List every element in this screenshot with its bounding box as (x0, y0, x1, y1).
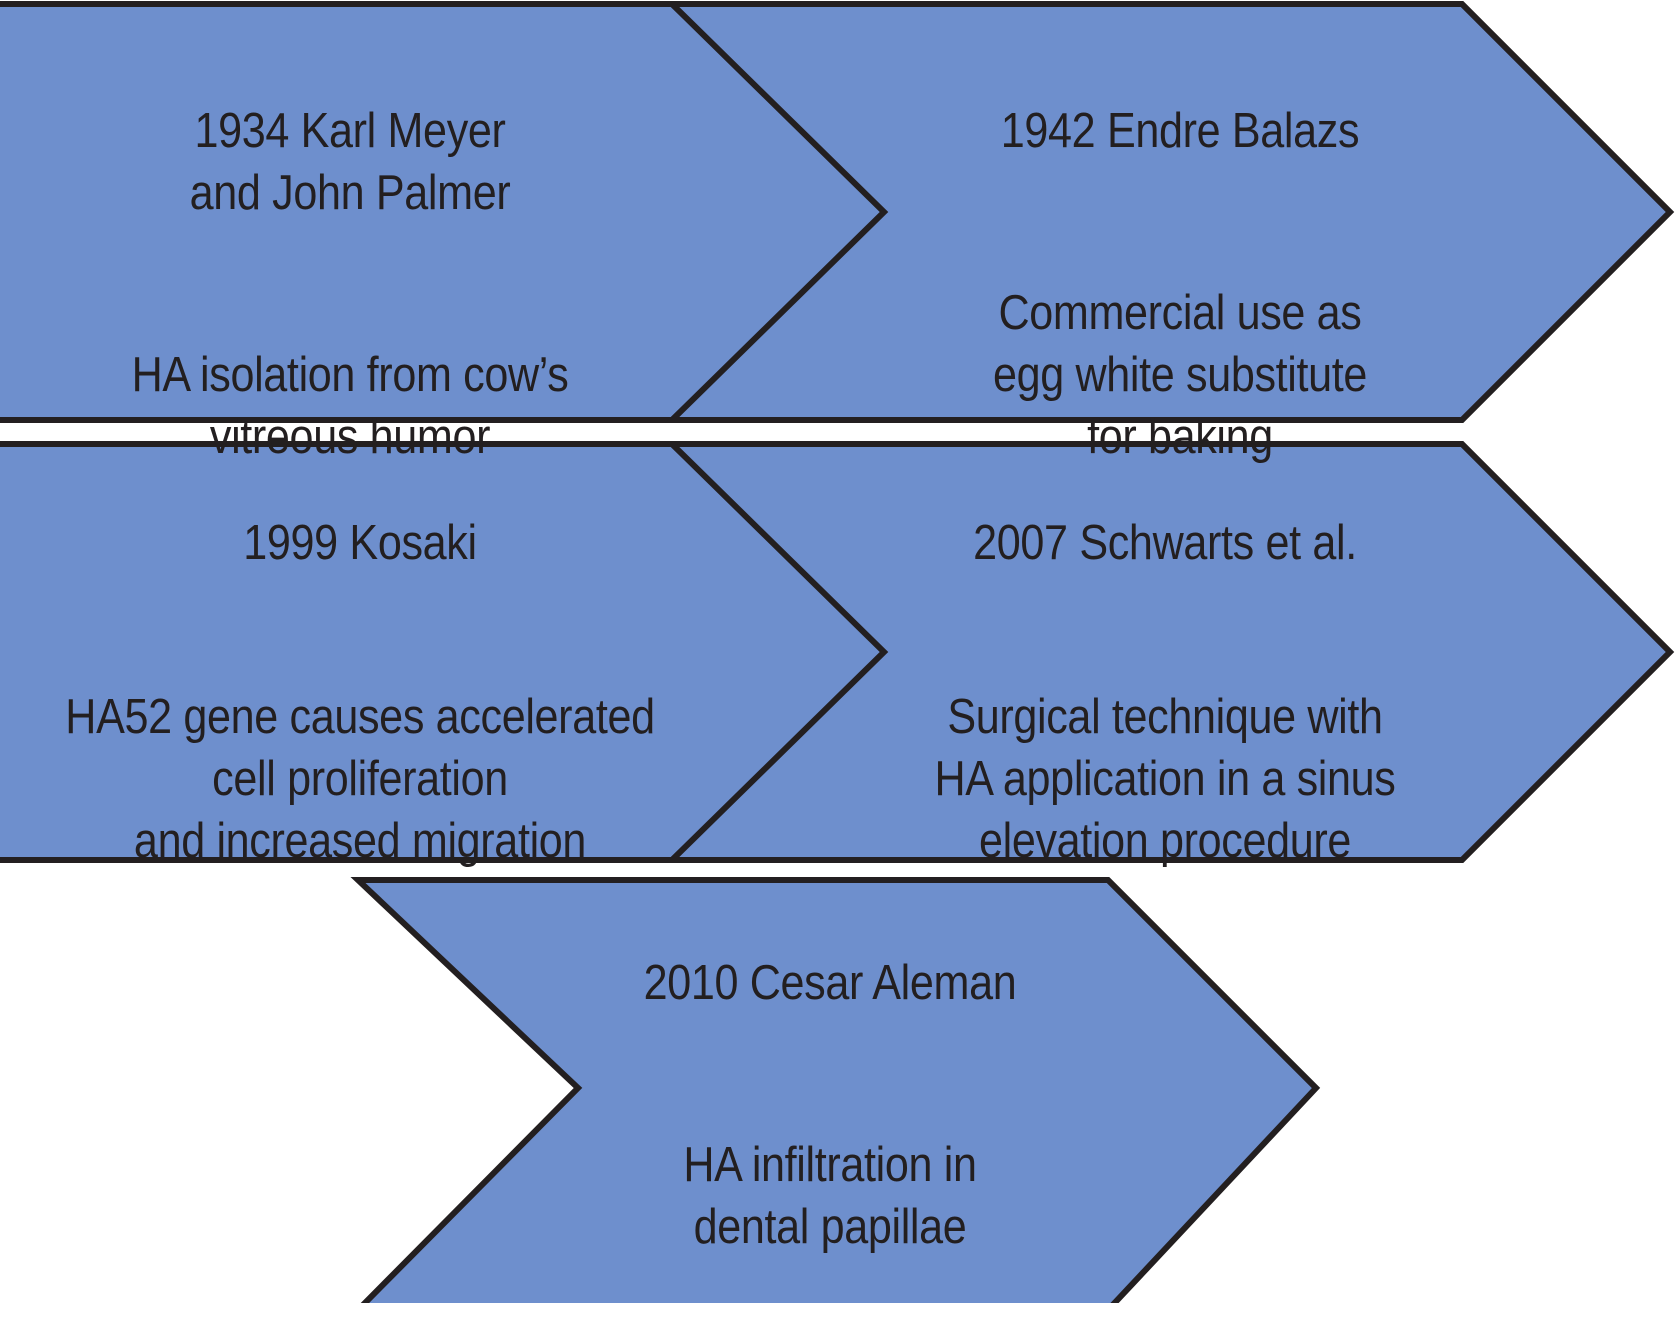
chevron-timeline-diagram: 1934 Karl Meyer and John Palmer HA isola… (0, 0, 1675, 1303)
chevron-shapes-layer (0, 0, 1675, 1303)
chevron-step-2010[interactable] (358, 880, 1316, 1303)
